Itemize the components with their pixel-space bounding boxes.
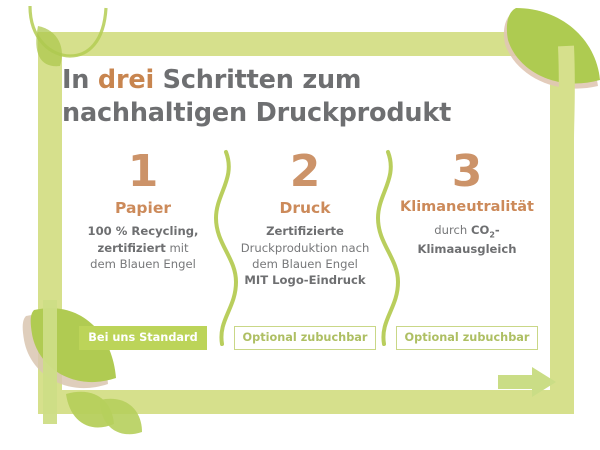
step-badge-wrap-3: Optional zubuchbar xyxy=(386,326,548,350)
headline-part-2: Schritten zum xyxy=(154,65,361,95)
frame-border-bottom xyxy=(38,390,574,414)
step-badge-wrap-1: Bei uns Standard xyxy=(62,326,224,350)
step-card-1: 1 Papier 100 % Recycling,zertifiziert mi… xyxy=(62,148,224,358)
step-card-3: 3 Klimaneutralität durch CO2-Klimaausgle… xyxy=(386,148,548,358)
step-body-2: ZertifizierteDruckproduktion nachdem Bla… xyxy=(235,223,376,289)
step-title-2: Druck xyxy=(279,200,330,217)
step-number-1: 1 xyxy=(128,150,159,194)
step-body-3: durch CO2-Klimaausgleich xyxy=(411,222,522,257)
step-card-2: 2 Druck ZertifizierteDruckproduktion nac… xyxy=(224,148,386,358)
step-title-1: Papier xyxy=(115,200,171,217)
page-title: In drei Schritten zum nachhaltigen Druck… xyxy=(62,64,532,129)
status-badge-2[interactable]: Optional zubuchbar xyxy=(234,326,377,350)
headline-accent-word: drei xyxy=(98,65,154,95)
step-number-3: 3 xyxy=(452,150,483,194)
headline-line-2: nachhaltigen Druckprodukt xyxy=(62,98,451,128)
frame-border-left xyxy=(38,32,62,414)
steps-row: 1 Papier 100 % Recycling,zertifiziert mi… xyxy=(62,148,550,358)
frame-border-right xyxy=(550,32,574,414)
frame-border-top xyxy=(38,32,574,56)
status-badge-3[interactable]: Optional zubuchbar xyxy=(396,326,539,350)
status-badge-1[interactable]: Bei uns Standard xyxy=(79,326,206,350)
step-title-3: Klimaneutralität xyxy=(400,200,534,216)
infographic-poster: In drei Schritten zum nachhaltigen Druck… xyxy=(0,0,600,450)
step-body-1: 100 % Recycling,zertifiziert mitdem Blau… xyxy=(82,223,205,272)
headline-part-1: In xyxy=(62,65,98,95)
step-number-2: 2 xyxy=(290,150,321,194)
step-badge-wrap-2: Optional zubuchbar xyxy=(224,326,386,350)
